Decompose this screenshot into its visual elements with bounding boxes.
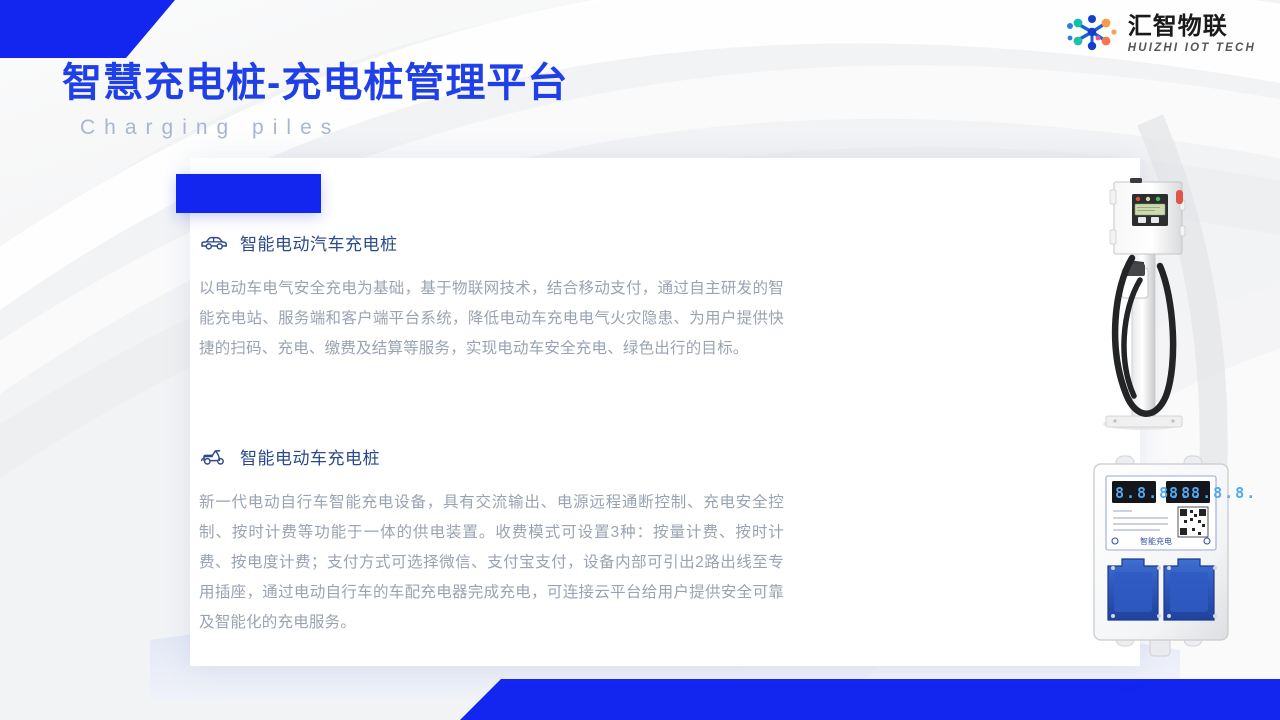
svg-text:8.8.8.8.: 8.8.8.8. [1169, 484, 1255, 502]
svg-text:智能充电: 智能充电 [1140, 536, 1172, 546]
logo-name-en: HUIZHI IOT TECH [1128, 43, 1256, 55]
page-title: 智慧充电桩-充电桩管理平台 [62, 62, 568, 104]
ebike-charging-station-photo: 8.8.8.8. 8.8.8.8. [1080, 448, 1255, 663]
section-title: 智能电动车充电桩 [240, 444, 380, 469]
bottom-right-accent-shape [460, 679, 1280, 720]
company-logo: 汇智物联 HUIZHI IOT TECH [1064, 12, 1256, 57]
section-body: 新一代电动自行车智能充电设备，具有交流输出、电源远程通断控制、充电安全控制、按时… [199, 488, 784, 638]
section-title: 智能电动汽车充电桩 [240, 230, 398, 255]
logo-name-cn: 汇智物联 [1128, 15, 1256, 39]
section-tag-badge[interactable] [176, 174, 321, 213]
scooter-icon [199, 446, 229, 468]
car-icon [199, 232, 229, 254]
molecule-network-icon [1064, 12, 1120, 57]
page-header: 智慧充电桩-充电桩管理平台 Charging piles [62, 62, 568, 140]
section-ebike-pile: 智能电动车充电桩 新一代电动自行车智能充电设备，具有交流输出、电源远程通断控制、… [199, 444, 784, 638]
ev-charging-pile-photo [1070, 168, 1250, 433]
section-ev-car-pile: 智能电动汽车充电桩 以电动车电气安全充电为基础，基于物联网技术，结合移动支付，通… [199, 230, 784, 364]
page-subtitle: Charging piles [80, 116, 568, 140]
section-body: 以电动车电气安全充电为基础，基于物联网技术，结合移动支付，通过自主研发的智能充电… [199, 274, 784, 364]
content-card: 智能电动汽车充电桩 以电动车电气安全充电为基础，基于物联网技术，结合移动支付，通… [190, 158, 1140, 666]
